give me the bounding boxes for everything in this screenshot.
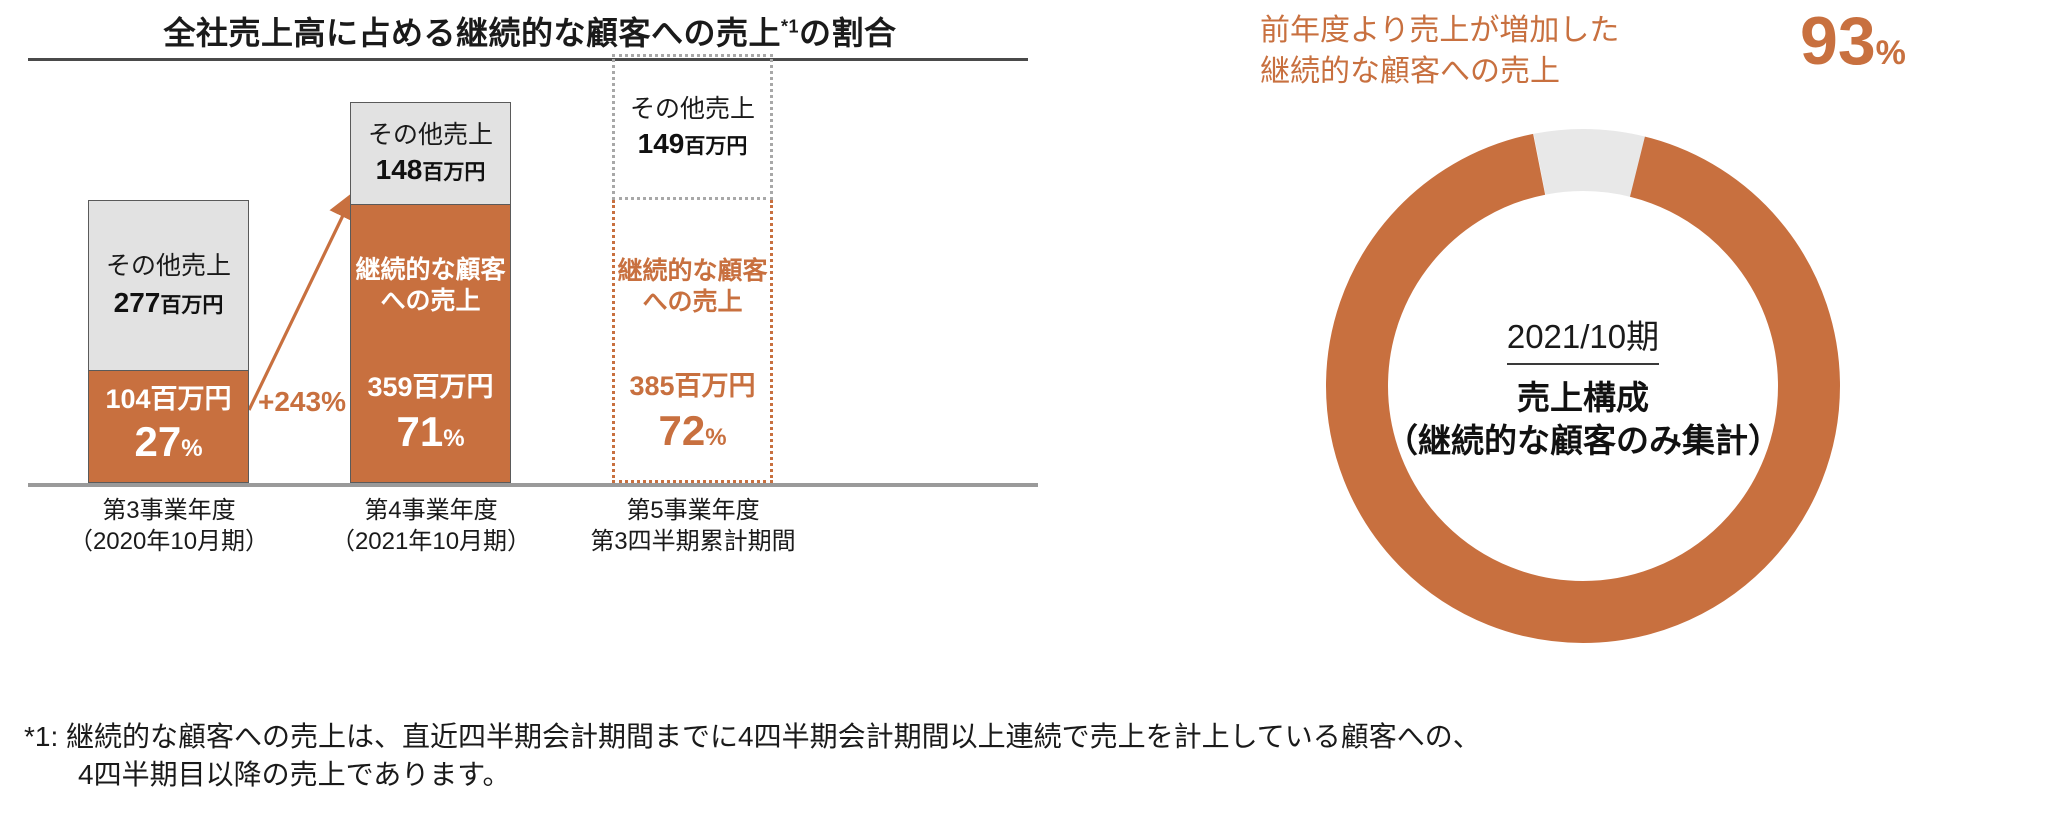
bar-1-segment-recurring: 104百万円 27% xyxy=(88,371,249,483)
bar-3-recurring-label-line2: への売上 xyxy=(642,287,742,318)
donut-center-line1: 売上構成 xyxy=(1517,377,1649,420)
x-tick-label-3: 第5事業年度 第3四半期累計期間 xyxy=(572,495,814,557)
kpi-value-percent-sign: % xyxy=(1876,34,1906,72)
chart-title-main: 全社売上高に占める継続的な顧客への売上 xyxy=(163,15,781,51)
donut-center-line2: （継続的な顧客のみ集計） xyxy=(1385,420,1781,463)
bar-2-recurring-label-line2: への売上 xyxy=(380,286,480,317)
chart-title-tail: の割合 xyxy=(799,15,897,51)
bar-2-recurring-value: 359百万円 xyxy=(367,365,493,404)
x-tick-label-2: 第4事業年度 （2021年10月期） xyxy=(310,495,552,557)
bar-2-share-percent: 71% xyxy=(396,408,464,456)
title-underline xyxy=(28,58,1028,61)
bar-2-segment-recurring: 継続的な顧客 への売上 359百万円 71% xyxy=(350,205,511,483)
bar-column-2: その他売上 148百万円 継続的な顧客 への売上 359百万円 71% xyxy=(350,70,511,483)
x-tick-1-line1: 第3事業年度 xyxy=(48,495,290,526)
bar-2-recurring-label-line1: 継続的な顧客 xyxy=(355,255,505,286)
slide-root: 全社売上高に占める継続的な顧客への売上*1の割合 その他売上 277百万円 xyxy=(0,0,2048,829)
kpi-value-number: 93 xyxy=(1800,3,1876,79)
bar-3-share-percent: 72% xyxy=(658,407,726,455)
bar-2-segment-other: その他売上 148百万円 xyxy=(350,102,511,205)
bar-3-segment-recurring: 継続的な顧客 への売上 385百万円 72% xyxy=(612,200,773,483)
x-axis-line xyxy=(28,483,1038,487)
bar-2-other-value: 148百万円 xyxy=(376,152,486,187)
bar-1-other-unit: 百万円 xyxy=(160,294,223,317)
x-tick-3-line1: 第5事業年度 xyxy=(572,495,814,526)
footnote-line1: *1: 継続的な顧客への売上は、直近四半期会計期間までに4四半期会計期間以上連続… xyxy=(24,721,1481,752)
bar-1-recurring-value: 104百万円 xyxy=(105,377,231,416)
bar-column-1: その他売上 277百万円 104百万円 27% xyxy=(88,70,249,483)
bar-2-other-unit: 百万円 xyxy=(422,161,485,184)
donut-center-period: 2021/10期 xyxy=(1507,310,1659,365)
kpi-description-line1: 前年度より売上が増加した xyxy=(1260,10,1619,51)
bar-1-other-value: 277百万円 xyxy=(114,285,224,320)
kpi-description: 前年度より売上が増加した 継続的な顧客への売上 xyxy=(1260,10,1619,93)
x-tick-2-line2: （2021年10月期） xyxy=(310,526,552,557)
kpi-value: 93% xyxy=(1800,2,1906,80)
chart-title-footnote-marker: *1 xyxy=(781,16,799,36)
bar-1-share-percent: 27% xyxy=(134,418,202,466)
x-tick-1-line2: （2020年10月期） xyxy=(48,526,290,557)
x-tick-3-line2: 第3四半期累計期間 xyxy=(572,526,814,557)
bar-column-3: その他売上 149百万円 継続的な顧客 への売上 385百万円 72% xyxy=(612,70,773,483)
donut-chart-panel: 前年度より売上が増加した 継続的な顧客への売上 93% 2021/10期 売上構… xyxy=(1100,0,2048,829)
bar-3-recurring-value: 385百万円 xyxy=(629,364,755,403)
bar-3-other-unit: 百万円 xyxy=(684,135,747,158)
bar-3-other-value: 149百万円 xyxy=(638,126,748,161)
bar-3-recurring-label-line1: 継続的な顧客 xyxy=(617,256,767,287)
x-tick-label-1: 第3事業年度 （2020年10月期） xyxy=(48,495,290,557)
bar-3-segment-other: その他売上 149百万円 xyxy=(612,54,773,200)
plot-area: その他売上 277百万円 104百万円 27% その他売上 148百万円 継続的… xyxy=(0,70,1100,490)
bar-chart-panel: 全社売上高に占める継続的な顧客への売上*1の割合 その他売上 277百万円 xyxy=(0,0,1100,829)
bar-3-other-label: その他売上 xyxy=(630,94,755,124)
x-tick-2-line1: 第4事業年度 xyxy=(310,495,552,526)
footnote-line2: 4四半期目以降の売上であります。 xyxy=(24,756,2034,794)
bar-2-other-label: その他売上 xyxy=(368,120,493,150)
bar-1-segment-other: その他売上 277百万円 xyxy=(88,200,249,371)
donut-center-label: 2021/10期 売上構成 （継続的な顧客のみ集計） xyxy=(1293,96,1873,676)
kpi-description-line2: 継続的な顧客への売上 xyxy=(1260,51,1619,92)
footnote: *1: 継続的な顧客への売上は、直近四半期会計期間までに4四半期会計期間以上連続… xyxy=(24,718,2034,794)
bar-1-other-label: その他売上 xyxy=(106,251,231,281)
donut-chart: 2021/10期 売上構成 （継続的な顧客のみ集計） xyxy=(1293,96,1873,676)
growth-annotation: +243% xyxy=(258,386,346,418)
chart-title: 全社売上高に占める継続的な顧客への売上*1の割合 xyxy=(60,8,1000,54)
